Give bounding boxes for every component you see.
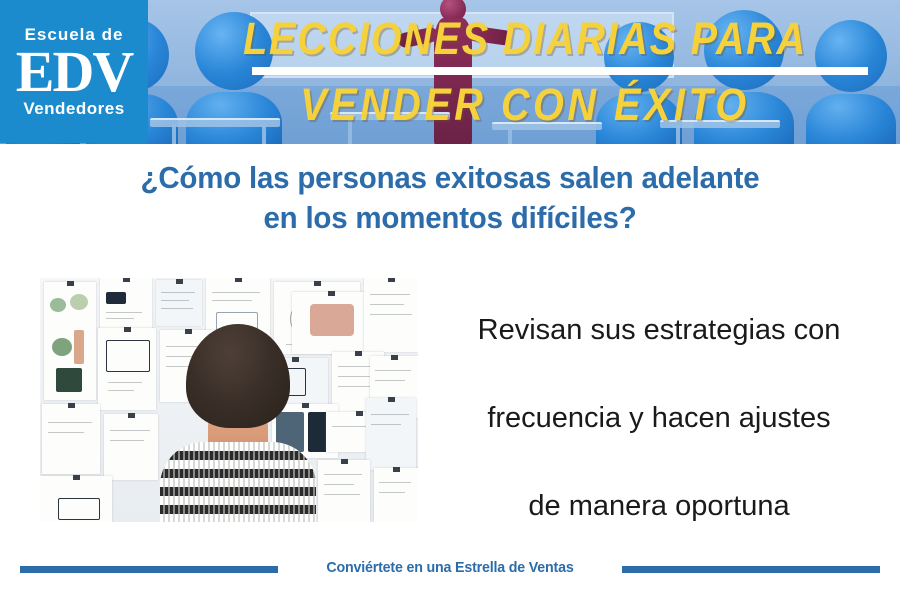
banner-title-line-1: LECCIONES DIARIAS PARA [195,14,855,64]
banner-divider-rule [252,67,868,75]
paper-scribble [379,492,405,493]
sweater-stripe [160,442,316,451]
paper-pin-icon [393,467,400,472]
logo-monogram: EDV [16,41,132,103]
sweater-stripe [160,505,316,514]
sweater-stripe [160,487,316,496]
paper-scribble [212,292,260,293]
wall-paper [366,398,416,470]
paper-swatch [106,340,150,372]
paper-scribble [48,432,84,433]
sweater-stripe [160,460,316,469]
paper-scribble [370,294,410,295]
paper-swatch [74,330,84,364]
paper-pin-icon [388,278,395,282]
paper-pin-icon [314,281,321,286]
paper-scribble [161,300,189,301]
paper-scribble [108,390,134,391]
paper-pin-icon [328,291,335,296]
wall-paper [104,414,158,480]
paper-pin-icon [68,403,75,408]
banner-title-line-2: VENDER CON ÉXITO [195,80,855,130]
wall-paper [44,282,96,400]
paper-pin-icon [124,327,131,332]
paper-pin-icon [128,413,135,418]
paper-pin-icon [123,278,130,282]
paper-scribble [324,474,362,475]
paper-scribble [371,424,401,425]
paper-scribble [108,382,142,383]
wall-paper [374,468,418,522]
logo-bottom-text: Vendedores [23,99,124,119]
paper-swatch [106,292,126,304]
paper-scribble [110,430,150,431]
wall-paper [318,460,370,522]
paper-scribble [48,422,92,423]
headline-line-2: en los momentos difíciles? [23,198,878,238]
paper-scribble [338,376,370,377]
paper-scribble [106,312,142,313]
paper-pin-icon [356,411,363,416]
paper-scribble [324,484,354,485]
paper-scribble [161,292,195,293]
paper-swatch [50,298,66,312]
body-copy: Revisan sus estrategias con frecuencia y… [426,286,892,550]
slide-canvas: LECCIONES DIARIAS PARA VENDER CON ÉXITO … [0,0,900,600]
paper-swatch [52,338,72,356]
paper-pin-icon [67,281,74,286]
wall-paper [98,328,156,410]
paper-swatch [70,294,88,310]
body-line-1: Revisan sus estrategias con [426,286,892,374]
page-title: ¿Cómo las personas exitosas salen adelan… [23,158,878,238]
brand-logo: Escuela de EDV Vendedores [0,0,148,143]
paper-scribble [324,494,360,495]
paper-pin-icon [355,351,362,356]
footer-tagline: Conviértete en una Estrella de Ventas [23,559,878,576]
paper-scribble [370,314,412,315]
paper-swatch [58,498,100,520]
paper-scribble [370,304,404,305]
paper-pin-icon [388,397,395,402]
paper-scribble [212,300,252,301]
paper-scribble [161,308,193,309]
wall-paper [156,280,202,326]
person-hair [186,324,290,428]
paper-pin-icon [341,459,348,464]
wall-paper [40,476,112,522]
paper-pin-icon [176,279,183,284]
sweater-stripe [160,496,316,505]
wall-paper [42,404,100,474]
paper-scribble [371,414,409,415]
body-line-2: frecuencia y hacen ajustes [426,374,892,462]
paper-swatch [56,368,82,392]
sweater-stripe [160,478,316,487]
person-striped-sweater [160,442,316,522]
paper-scribble [375,370,411,371]
headline-line-1: ¿Cómo las personas exitosas salen adelan… [23,158,878,198]
photo-subject-person [158,324,318,522]
paper-scribble [379,482,411,483]
content-photo [40,278,418,522]
wall-paper [364,278,418,352]
sweater-stripe [160,514,316,522]
sweater-stripe [160,469,316,478]
paper-pin-icon [73,475,80,480]
sweater-stripe [160,451,316,460]
paper-scribble [106,318,134,319]
body-line-3: de manera oportuna [426,462,892,550]
paper-scribble [110,440,144,441]
paper-pin-icon [391,355,398,360]
paper-pin-icon [235,278,242,282]
footer: Conviértete en una Estrella de Ventas [0,552,900,592]
paper-scribble [375,380,405,381]
